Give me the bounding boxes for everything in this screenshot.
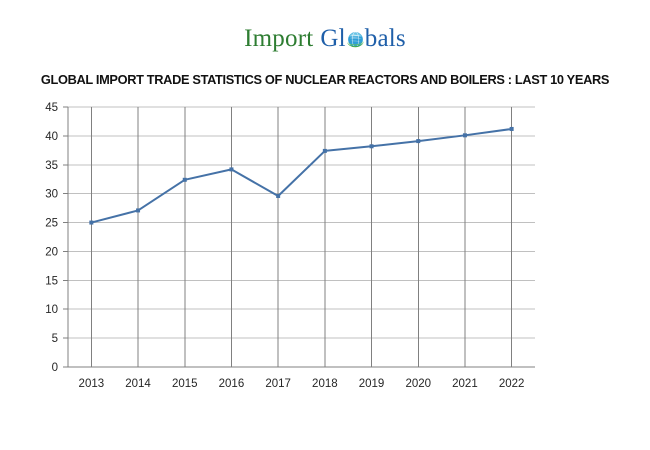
- y-axis-tick-labels: 051015202530354045: [45, 102, 58, 374]
- x-tick-label: 2017: [265, 378, 291, 390]
- x-tick-label: 2016: [219, 378, 245, 390]
- y-tick-label: 30: [45, 189, 58, 201]
- line-chart: 051015202530354045 201320142015201620172…: [0, 99, 650, 419]
- y-tick-label: 15: [45, 275, 58, 287]
- y-tick-label: 40: [45, 131, 58, 143]
- brand-logo: Import Gl bals: [244, 26, 406, 51]
- data-point-marker: [416, 139, 420, 143]
- data-point-marker: [370, 144, 374, 148]
- logo-text-bals: bals: [365, 26, 406, 51]
- chart-title: GLOBAL IMPORT TRADE STATISTICS OF NUCLEA…: [10, 72, 641, 87]
- x-tick-label: 2021: [452, 378, 478, 390]
- y-tick-label: 25: [45, 218, 58, 230]
- x-axis-tick-labels: 2013201420152016201720182019202020212022: [79, 378, 525, 390]
- y-tick-label: 10: [45, 304, 58, 316]
- data-point-marker: [89, 221, 93, 225]
- y-tick-label: 35: [45, 160, 58, 172]
- data-point-marker: [229, 167, 233, 171]
- y-tick-label: 5: [52, 333, 58, 345]
- data-point-marker: [323, 149, 327, 153]
- data-point-marker: [276, 194, 280, 198]
- logo-text-gl: Gl: [320, 26, 345, 51]
- y-tick-label: 45: [45, 102, 58, 114]
- x-tick-label: 2022: [499, 378, 525, 390]
- y-tick-label: 0: [52, 362, 58, 374]
- logo-text-import: Import: [244, 26, 313, 51]
- data-series-line: [91, 129, 511, 223]
- chart-area: 051015202530354045 201320142015201620172…: [0, 99, 650, 419]
- data-point-marker: [510, 127, 514, 131]
- logo-area: Import Gl bals: [0, 0, 650, 62]
- x-tick-label: 2013: [79, 378, 105, 390]
- data-point-marker: [136, 208, 140, 212]
- globe-icon: [346, 29, 365, 48]
- x-tick-label: 2020: [405, 378, 431, 390]
- data-point-marker: [183, 178, 187, 182]
- y-tick-label: 20: [45, 246, 58, 258]
- y-axis: [63, 107, 68, 367]
- category-gridlines: [91, 107, 511, 367]
- x-tick-label: 2018: [312, 378, 338, 390]
- x-tick-label: 2014: [125, 378, 151, 390]
- data-point-markers: [89, 127, 513, 225]
- x-tick-label: 2019: [359, 378, 385, 390]
- data-point-marker: [463, 133, 467, 137]
- x-tick-label: 2015: [172, 378, 198, 390]
